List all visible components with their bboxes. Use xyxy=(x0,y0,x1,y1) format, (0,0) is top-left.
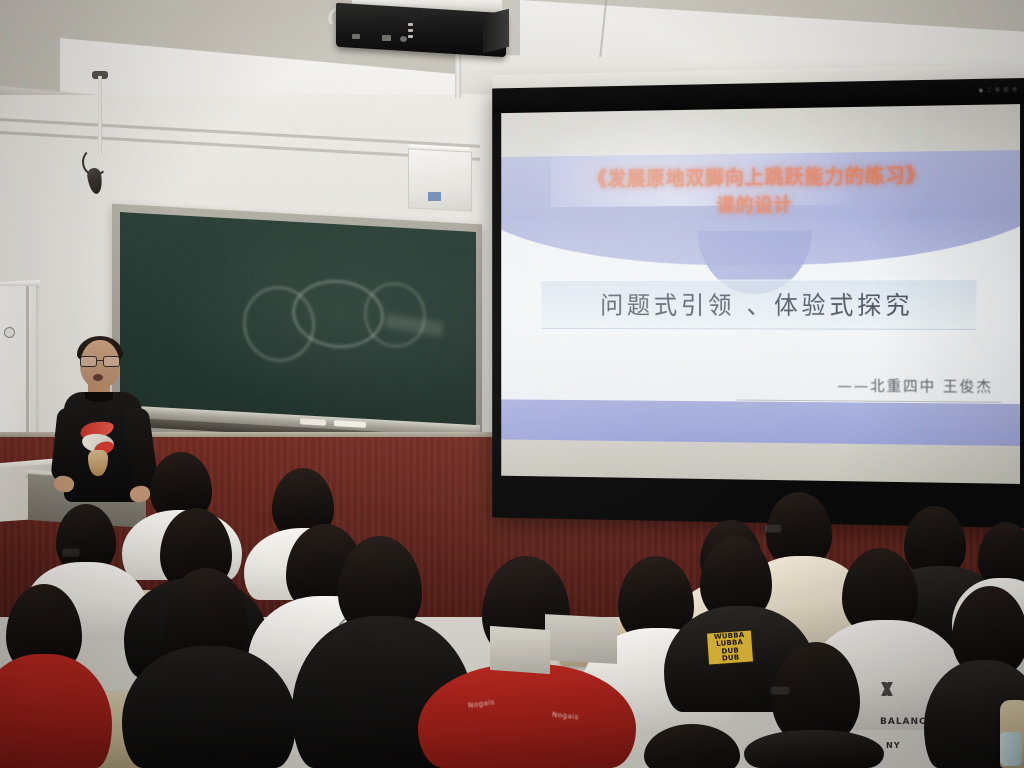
wall-cabinet[interactable] xyxy=(0,286,36,438)
projector-lens-side xyxy=(483,9,509,53)
projection-screen[interactable]: ● 二 年 四 中 《发展原地双脚向上跳跃能力的练习》 课的设计 问题式引领 、… xyxy=(492,78,1024,528)
new-balance-shirt-subtext: NY xyxy=(886,742,901,750)
audience-shoulders xyxy=(0,654,112,768)
lock-icon[interactable] xyxy=(4,327,15,338)
glasses-icon xyxy=(770,686,790,695)
cabinet-edge xyxy=(26,286,29,438)
presenter-collar xyxy=(85,392,113,402)
projector-port xyxy=(400,36,407,42)
glasses-icon xyxy=(62,548,80,557)
slide-title: 《发展原地双脚向上跳跃能力的练习》 课的设计 xyxy=(501,159,1020,221)
presenter-shirt-graphic xyxy=(78,420,120,478)
screen-corner-logo: ● 二 年 四 中 xyxy=(979,86,1018,94)
presenter-mouth xyxy=(93,374,103,381)
projector-led xyxy=(408,35,413,38)
slide-bottom-band xyxy=(501,400,1020,446)
slide-title-line2: 课的设计 xyxy=(501,189,1020,221)
speaker-box-label xyxy=(428,192,441,201)
glasses-icon xyxy=(79,356,121,365)
water-bottle[interactable] xyxy=(1000,732,1022,766)
slide-subtitle: 问题式引领 、体验式探究 xyxy=(600,287,913,323)
slide-author: ——北重四中 王俊杰 xyxy=(837,374,993,396)
projector-led xyxy=(408,29,413,32)
glasses-icon xyxy=(764,524,782,533)
audience-shoulders xyxy=(744,730,884,768)
side-desk xyxy=(545,614,617,664)
side-desk-2 xyxy=(490,626,550,674)
slide-subtitle-box: 问题式引领 、体验式探究 xyxy=(541,279,977,330)
microphone-rod xyxy=(98,76,102,154)
speaker-box-icon xyxy=(408,148,472,211)
new-balance-logo-icon xyxy=(874,682,900,696)
projector-port xyxy=(352,34,360,39)
slide-footer-band xyxy=(501,439,1020,483)
projector-port xyxy=(382,35,391,41)
presenter xyxy=(52,336,162,536)
slide-canvas: 《发展原地双脚向上跳跃能力的练习》 课的设计 问题式引领 、体验式探究 ——北重… xyxy=(501,104,1020,484)
projector-led xyxy=(408,23,413,26)
wubba-lubba-dub-dub-shirt-text: WUBBA LUBBA DUB DUB xyxy=(707,631,753,665)
classroom-photo: ● 二 年 四 中 《发展原地双脚向上跳跃能力的练习》 课的设计 问题式引领 、… xyxy=(0,0,1024,768)
shirt-text-line4: DUB xyxy=(711,654,751,664)
